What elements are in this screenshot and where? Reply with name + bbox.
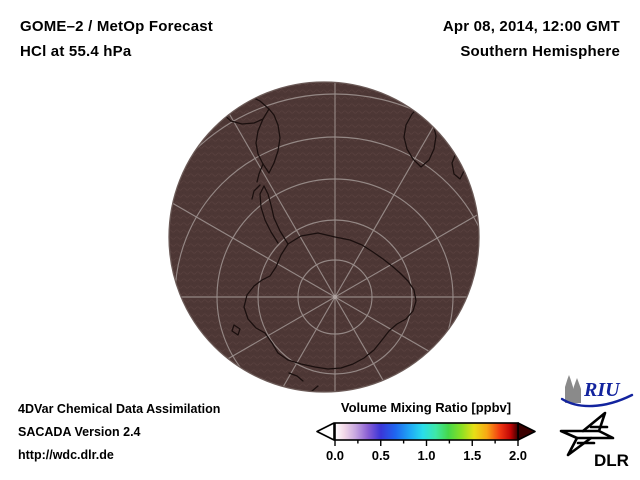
colorbar-tick-label: 1.0 [417,448,435,463]
dlr-logo: DLR [558,411,636,469]
colorbar-svg [312,420,540,450]
colorbar-tick-labels: 0.00.51.01.52.0 [312,448,540,468]
colorbar-tick-label: 1.5 [463,448,481,463]
colorbar: Volume Mixing Ratio [ppbv] 0.00.51.01.52… [312,400,540,472]
dlr-logo-text: DLR [594,451,629,469]
footer-version-label: SACADA Version 2.4 [18,425,141,439]
species-level-title: HCl at 55.4 hPa [20,43,131,60]
colorbar-tick-label: 0.5 [372,448,390,463]
colorbar-title: Volume Mixing Ratio [ppbv] [312,400,540,415]
figure-canvas: GOME–2 / MetOp Forecast HCl at 55.4 hPa … [0,0,640,480]
instrument-title: GOME–2 / MetOp Forecast [20,18,213,35]
footer-url-link[interactable]: http://wdc.dlr.de [18,448,114,462]
colorbar-over-arrow [518,423,535,440]
colorbar-tick-label: 2.0 [509,448,527,463]
dlr-bird-icon [561,413,613,455]
colorbar-under-arrow [317,423,334,440]
riu-cathedral-spires-icon [565,375,581,403]
region-label: Southern Hemisphere [460,43,620,60]
colorbar-ticks [335,440,518,446]
polar-map-svg [168,81,480,393]
footer-method-label: 4DVar Chemical Data Assimilation [18,402,220,416]
riu-logo-text: RIU [583,379,621,401]
polar-map [168,81,480,393]
colorbar-gradient [335,423,518,440]
riu-logo: RIU [558,373,636,409]
south-pole-marker [333,295,337,299]
colorbar-tick-label: 0.0 [326,448,344,463]
date-time-label: Apr 08, 2014, 12:00 GMT [443,18,620,35]
